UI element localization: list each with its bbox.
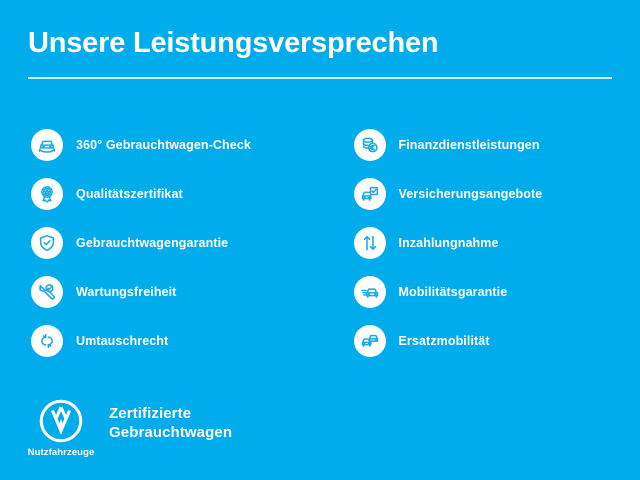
- list-item[interactable]: Gebrauchtwagengarantie: [31, 218, 318, 267]
- car-inspection-icon: [31, 129, 63, 161]
- list-item[interactable]: Mobilitätsgarantie: [354, 267, 640, 316]
- list-item[interactable]: Versicherungsangebote: [354, 169, 640, 218]
- brand-block: Nutzfahrzeuge: [28, 398, 94, 458]
- footer: Nutzfahrzeuge Zertifizierte Gebrauchtwag…: [28, 398, 232, 458]
- car-motion-icon: [354, 276, 386, 308]
- list-item[interactable]: Qualitätszertifikat: [31, 169, 318, 218]
- list-item-label: Qualitätszertifikat: [76, 187, 183, 201]
- footer-claim-line1: Zertifizierte: [109, 404, 232, 423]
- coins-euro-icon: [354, 129, 386, 161]
- list-item[interactable]: Ersatzmobilität: [354, 316, 640, 365]
- list-item[interactable]: Finanzdienstleistungen: [354, 120, 640, 169]
- list-item-label: Umtauschrecht: [76, 334, 168, 348]
- volkswagen-logo: [38, 398, 84, 444]
- up-down-arrows-icon: [354, 227, 386, 259]
- list-item-label: Gebrauchtwagengarantie: [76, 236, 228, 250]
- brand-subtitle: Nutzfahrzeuge: [28, 447, 95, 458]
- car-document-check-icon: [354, 178, 386, 210]
- list-item-label: Inzahlungnahme: [399, 236, 499, 250]
- wrench-check-icon: [31, 276, 63, 308]
- award-rosette-icon: [31, 178, 63, 210]
- list-item[interactable]: Wartungsfreiheit: [31, 267, 318, 316]
- promises-column-left: 360° Gebrauchtwagen-Check Qualitätszerti…: [0, 120, 318, 365]
- promises-column-right: Finanzdienstleistungen Versicheru: [318, 120, 640, 365]
- promises-grid: 360° Gebrauchtwagen-Check Qualitätszerti…: [0, 120, 640, 365]
- list-item[interactable]: Inzahlungnahme: [354, 218, 640, 267]
- footer-claim-line2: Gebrauchtwagen: [109, 423, 232, 442]
- list-item-label: Finanzdienstleistungen: [399, 138, 540, 152]
- header-divider: [28, 77, 612, 79]
- two-cars-icon: [354, 325, 386, 357]
- slide-root: Unsere Leistungsversprechen: [0, 0, 640, 480]
- list-item[interactable]: Umtauschrecht: [31, 316, 318, 365]
- list-item-label: Ersatzmobilität: [399, 334, 490, 348]
- list-item-label: 360° Gebrauchtwagen-Check: [76, 138, 251, 152]
- shield-check-icon: [31, 227, 63, 259]
- list-item[interactable]: 360° Gebrauchtwagen-Check: [31, 120, 318, 169]
- page-title: Unsere Leistungsversprechen: [28, 26, 612, 60]
- header: Unsere Leistungsversprechen: [28, 26, 612, 79]
- list-item-label: Versicherungsangebote: [399, 187, 543, 201]
- exchange-arrows-icon: [31, 325, 63, 357]
- list-item-label: Wartungsfreiheit: [76, 285, 176, 299]
- footer-claim: Zertifizierte Gebrauchtwagen: [109, 404, 232, 442]
- list-item-label: Mobilitätsgarantie: [399, 285, 508, 299]
